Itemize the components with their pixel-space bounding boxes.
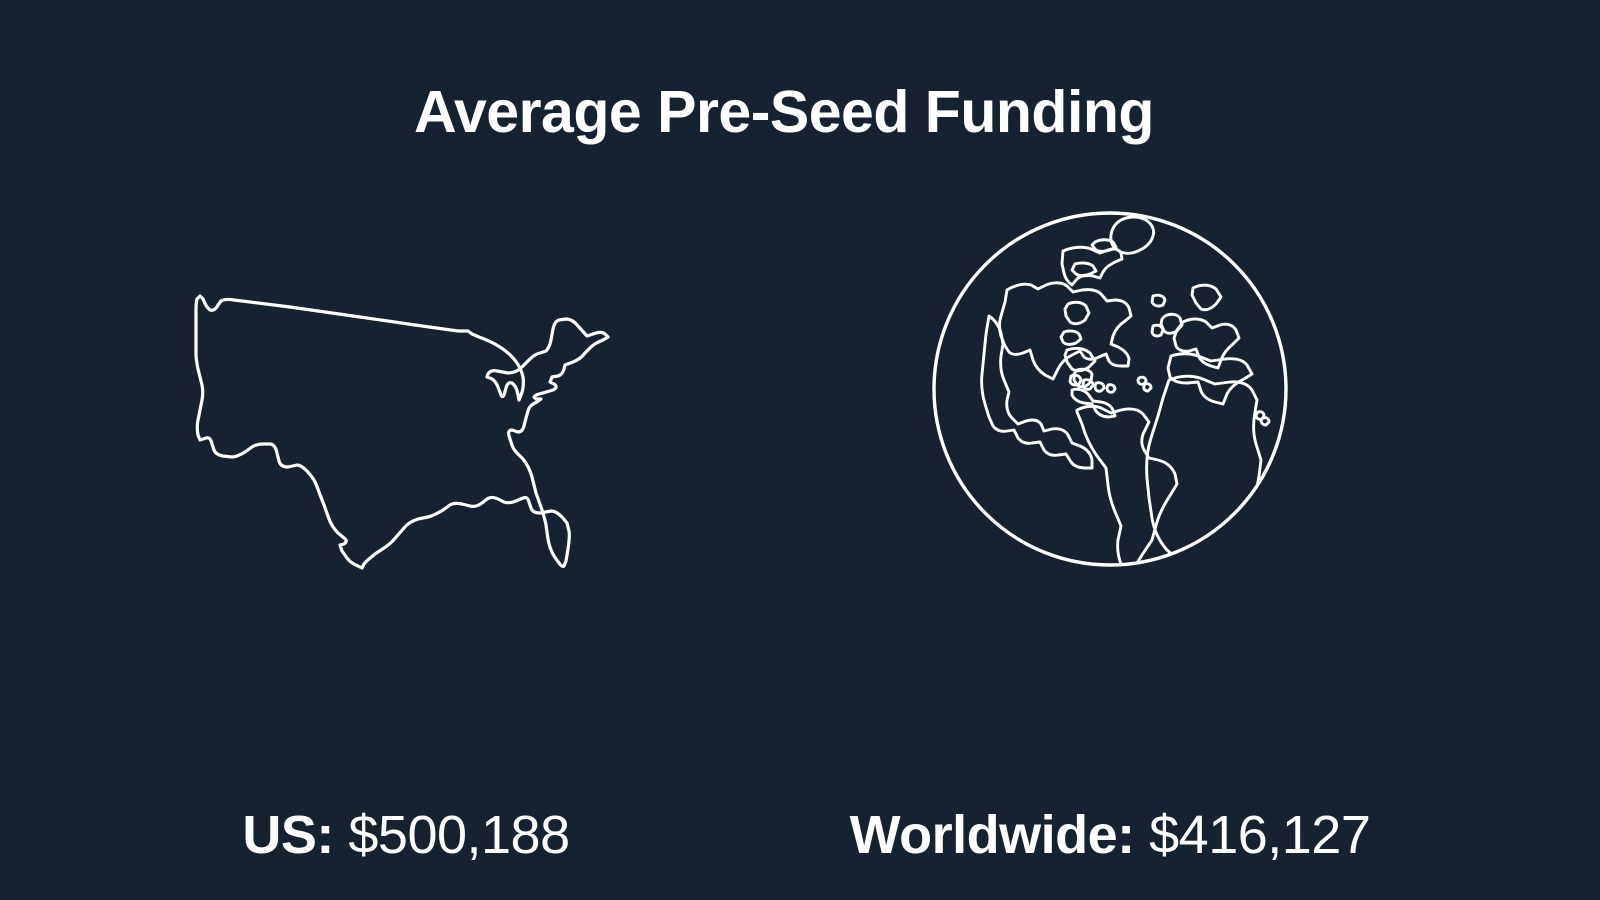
stat-label-us: US:: [242, 805, 348, 865]
stat-panel-us: US: $500,188: [120, 190, 720, 680]
us-map-icon: [190, 283, 650, 573]
page-title: Average Pre-Seed Funding: [0, 83, 1568, 142]
infographic-slide: Average Pre-Seed Funding US: $500,188: [0, 0, 1600, 900]
stat-panel-worldwide: Worldwide: $416,127: [800, 190, 1420, 680]
stat-label-worldwide: Worldwide:: [850, 805, 1150, 865]
globe-icon: [925, 204, 1295, 574]
globe-figure: [800, 190, 1420, 580]
us-map-figure: [120, 190, 720, 580]
stat-value-worldwide: $416,127: [1149, 805, 1370, 865]
stat-caption-worldwide: Worldwide: $416,127: [800, 808, 1420, 862]
stat-caption-us: US: $500,188: [106, 808, 706, 862]
stat-value-us: $500,188: [348, 805, 569, 865]
